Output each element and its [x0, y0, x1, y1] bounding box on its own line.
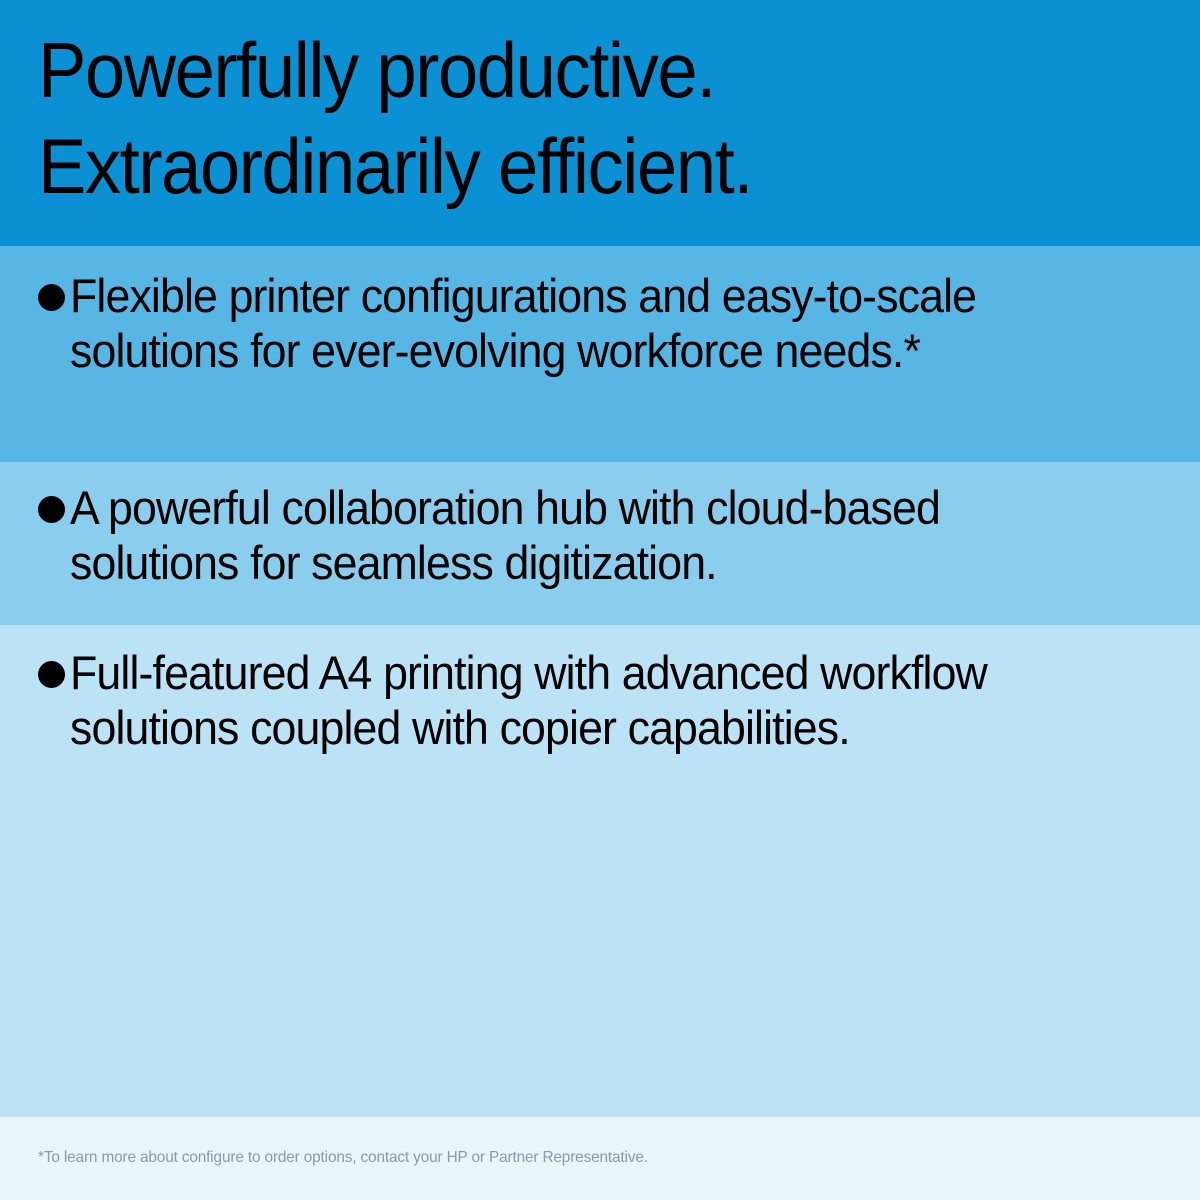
filled-circle-bullet-icon [38, 496, 65, 523]
footnote-text: *To learn more about configure to order … [38, 1147, 1115, 1169]
filled-circle-bullet-icon [38, 284, 65, 311]
bullet-band-collaboration-hub: A powerful collaboration hub with cloud-… [0, 462, 1200, 625]
bullet-item: Full-featured A4 printing with advanced … [38, 645, 1170, 755]
headline-line-1: Powerfully productive. [38, 22, 1081, 118]
header-band: Powerfully productive. Extraordinarily e… [0, 0, 1200, 246]
bullet-text-a4-printing: Full-featured A4 printing with advanced … [70, 645, 1115, 755]
headline-line-2: Extraordinarily efficient. [38, 118, 1081, 214]
marketing-slide: Powerfully productive. Extraordinarily e… [0, 0, 1200, 1200]
bullet-item: A powerful collaboration hub with cloud-… [38, 480, 1170, 590]
bullet-item: Flexible printer configurations and easy… [38, 268, 1170, 378]
bullet-band-a4-printing: Full-featured A4 printing with advanced … [0, 625, 1200, 1117]
bullet-band-flexible-configurations: Flexible printer configurations and easy… [0, 246, 1200, 462]
filled-circle-bullet-icon [38, 661, 65, 688]
bullet-text-flexible-configurations: Flexible printer configurations and easy… [70, 268, 1115, 378]
footer-band: *To learn more about configure to order … [0, 1117, 1200, 1200]
bullet-text-collaboration-hub: A powerful collaboration hub with cloud-… [70, 480, 1115, 590]
